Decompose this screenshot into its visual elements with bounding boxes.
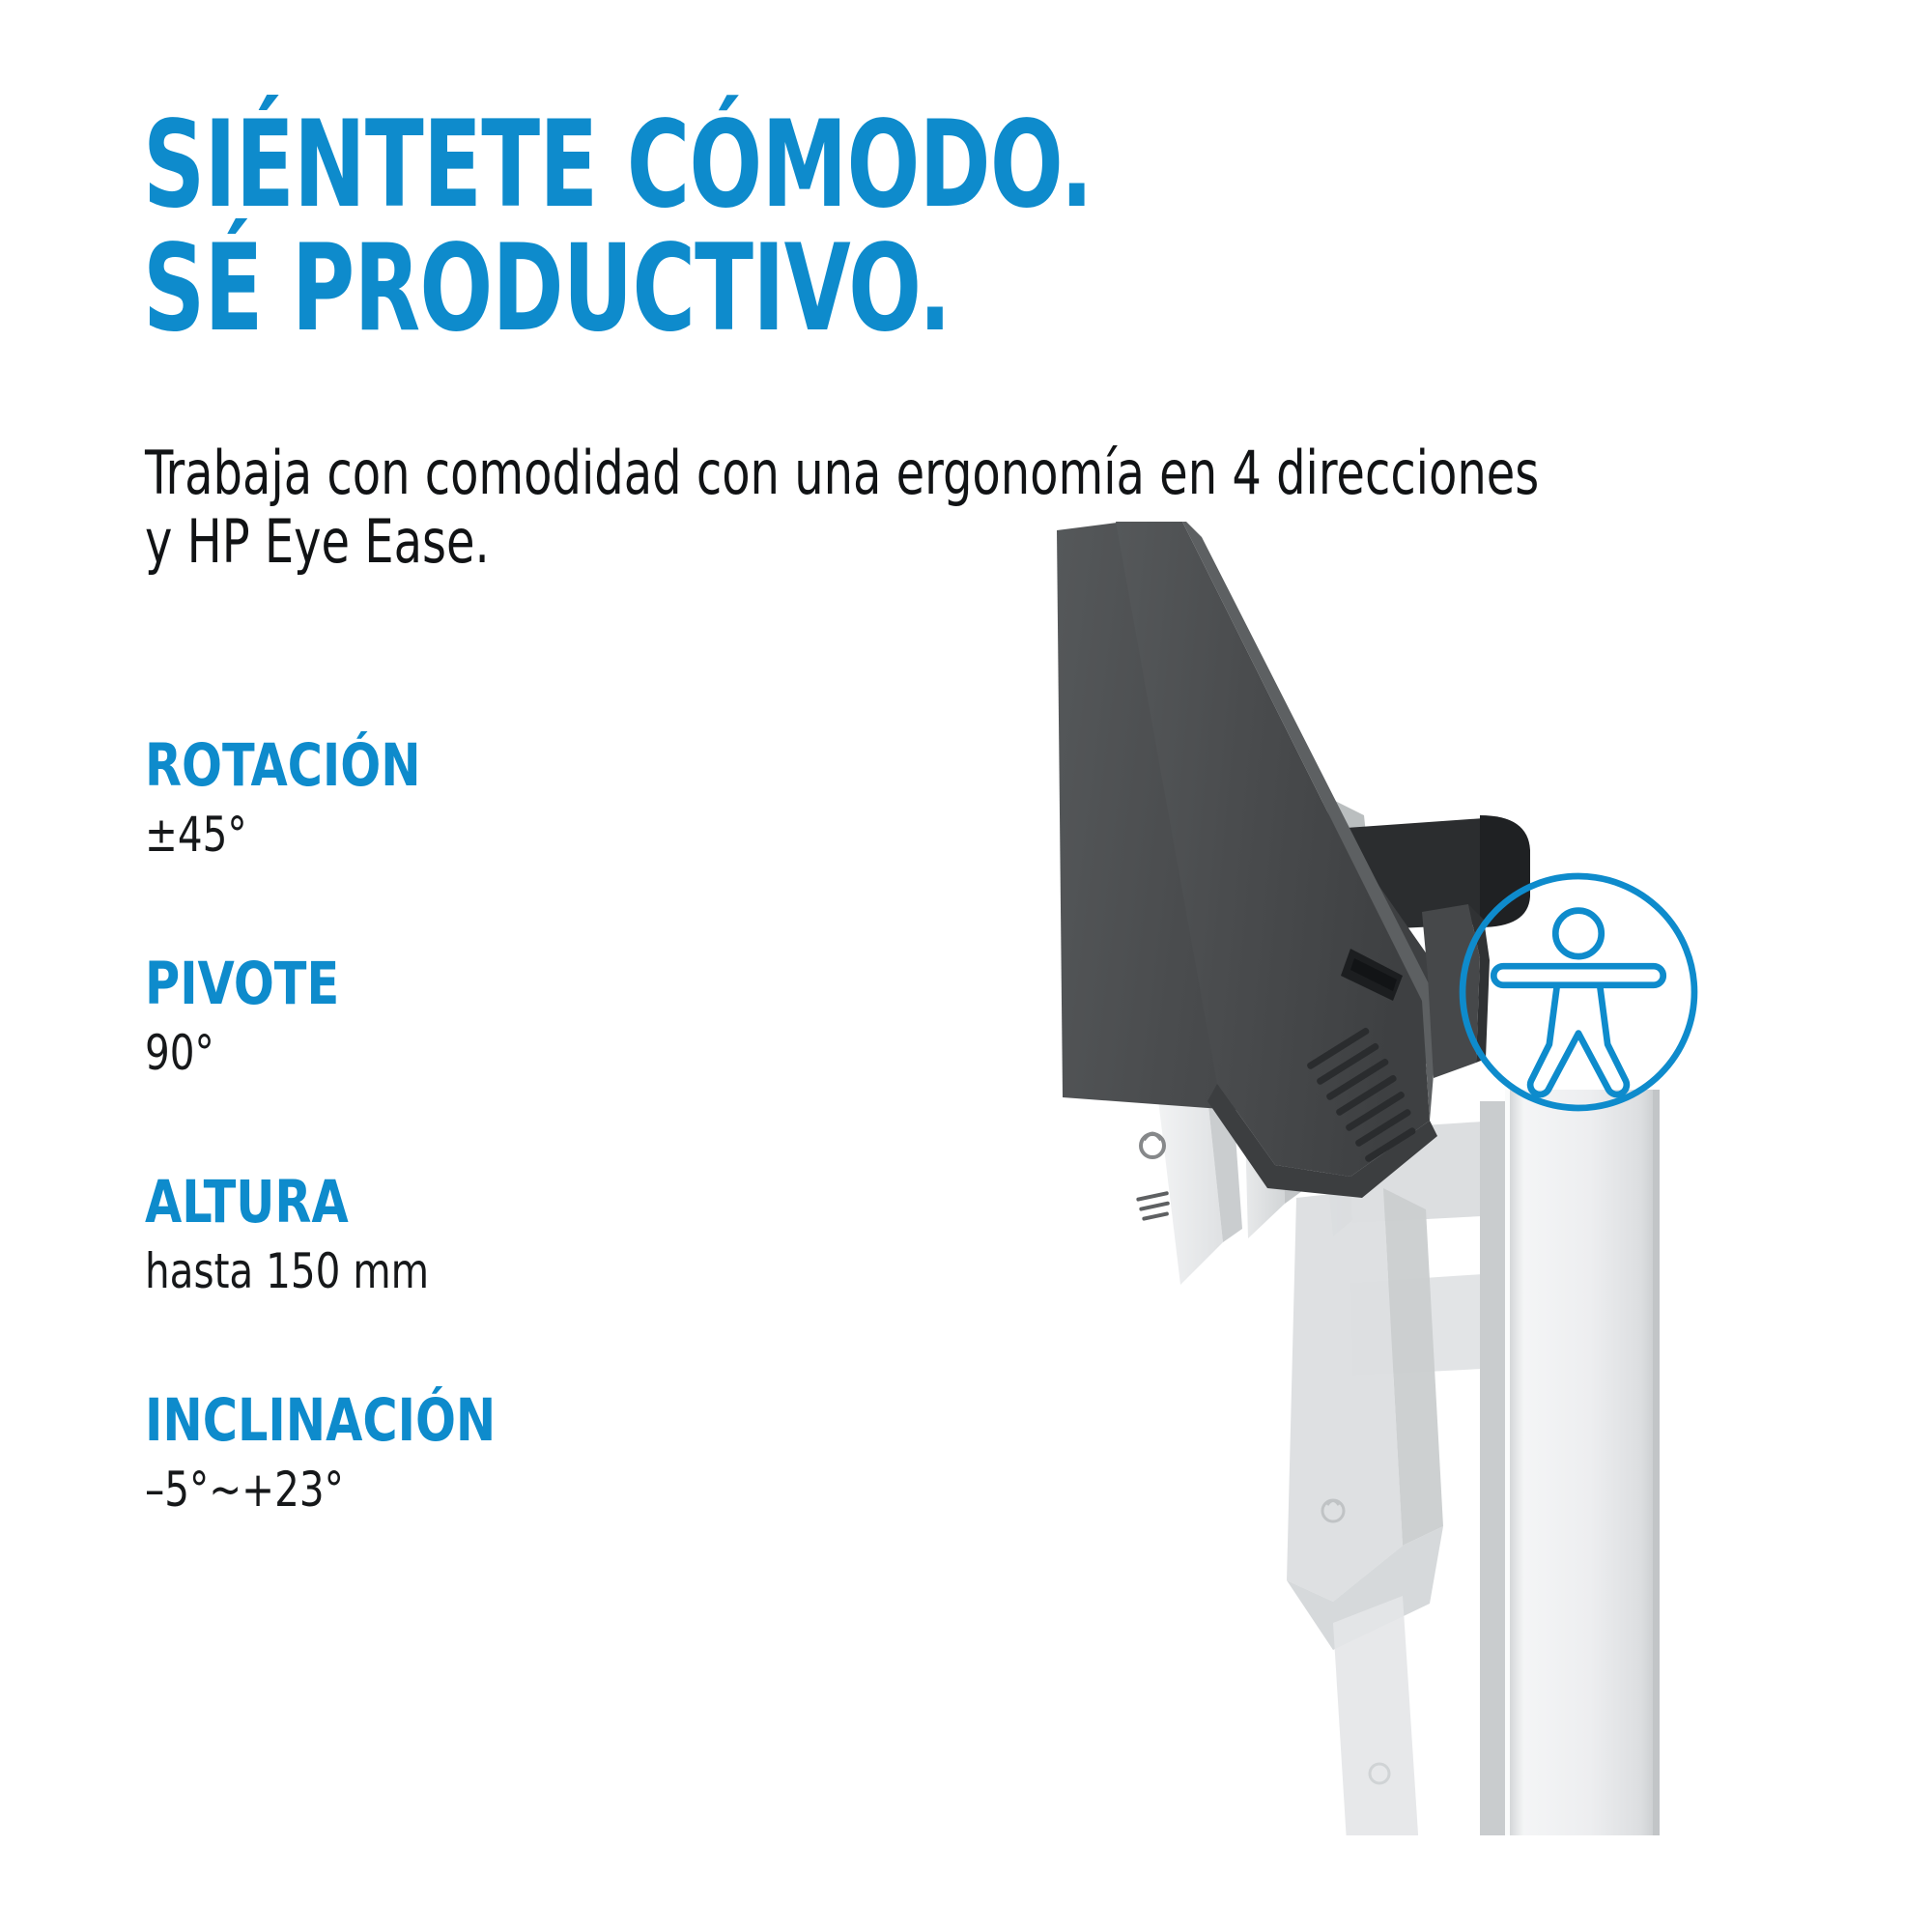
spec-title-inclinacion: INCLINACIÓN xyxy=(145,1389,771,1453)
stand-column xyxy=(1480,1090,1660,1835)
page-title: SIÉNTETE CÓMODO. SÉ PRODUCTIVO. xyxy=(143,104,1148,351)
spec-value-inclinacion: –5°~+23° xyxy=(145,1461,771,1519)
headphone-jack-icon xyxy=(1141,1134,1164,1158)
spec-value-pivote: 90° xyxy=(145,1024,771,1082)
spec-item-pivote: PIVOTE 90° xyxy=(145,952,840,1082)
promo-page: SIÉNTETE CÓMODO. SÉ PRODUCTIVO. Trabaja … xyxy=(0,0,1932,1932)
spec-value-altura: hasta 150 mm xyxy=(145,1242,771,1300)
spec-item-altura: ALTURA hasta 150 mm xyxy=(145,1171,840,1300)
spec-title-rotacion: ROTACIÓN xyxy=(145,734,771,798)
headline-line-1: SIÉNTETE CÓMODO. xyxy=(143,104,1148,228)
headline-line-2: SÉ PRODUCTIVO. xyxy=(143,228,1148,352)
accessibility-person-icon xyxy=(1454,867,1703,1117)
spec-title-pivote: PIVOTE xyxy=(145,952,771,1016)
monitor-side-profile-image xyxy=(1043,522,1816,1835)
spec-item-rotacion: ROTACIÓN ±45° xyxy=(145,734,840,864)
spec-value-rotacion: ±45° xyxy=(145,806,771,864)
subheadline-line-1: Trabaja con comodidad con una ergonomía … xyxy=(145,440,1607,508)
spec-title-altura: ALTURA xyxy=(145,1171,771,1235)
speaker-grille xyxy=(1136,1191,1170,1221)
ergonomics-spec-list: ROTACIÓN ±45° PIVOTE 90° ALTURA hasta 15… xyxy=(145,734,840,1519)
spec-item-inclinacion: INCLINACIÓN –5°~+23° xyxy=(145,1389,840,1519)
